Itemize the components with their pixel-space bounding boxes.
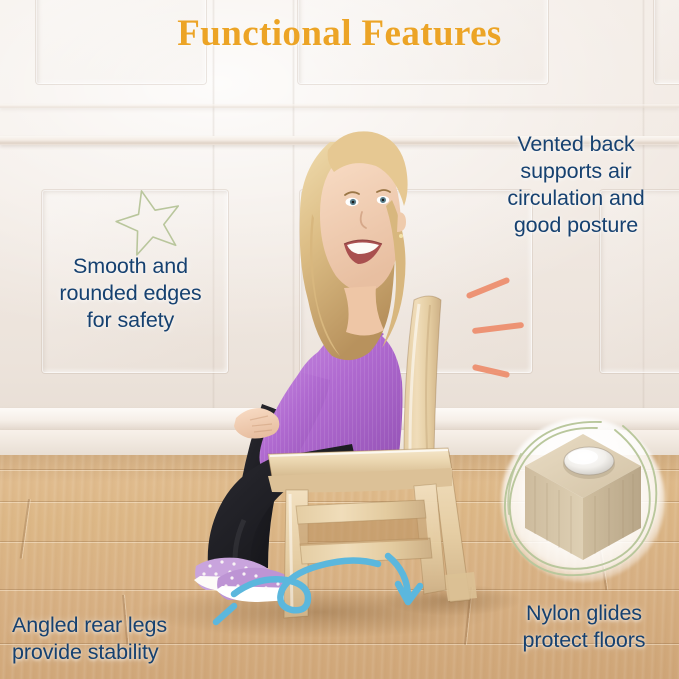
product-feature-poster: Functional Features Vented back supports… bbox=[0, 0, 679, 679]
callout-angled-legs: Angled rear legs provide stability bbox=[12, 612, 227, 666]
callout-nylon-glides: Nylon glides protect floors bbox=[494, 600, 674, 654]
page-title: Functional Features bbox=[0, 12, 679, 56]
sketch-circle-highlight-icon bbox=[497, 414, 669, 586]
callout-smooth-edges: Smooth and rounded edges for safety bbox=[28, 253, 233, 334]
nylon-glide-callout bbox=[497, 414, 669, 586]
callout-vented-back: Vented back supports air circulation and… bbox=[476, 131, 676, 239]
stability-arrow-icon bbox=[212, 536, 434, 632]
